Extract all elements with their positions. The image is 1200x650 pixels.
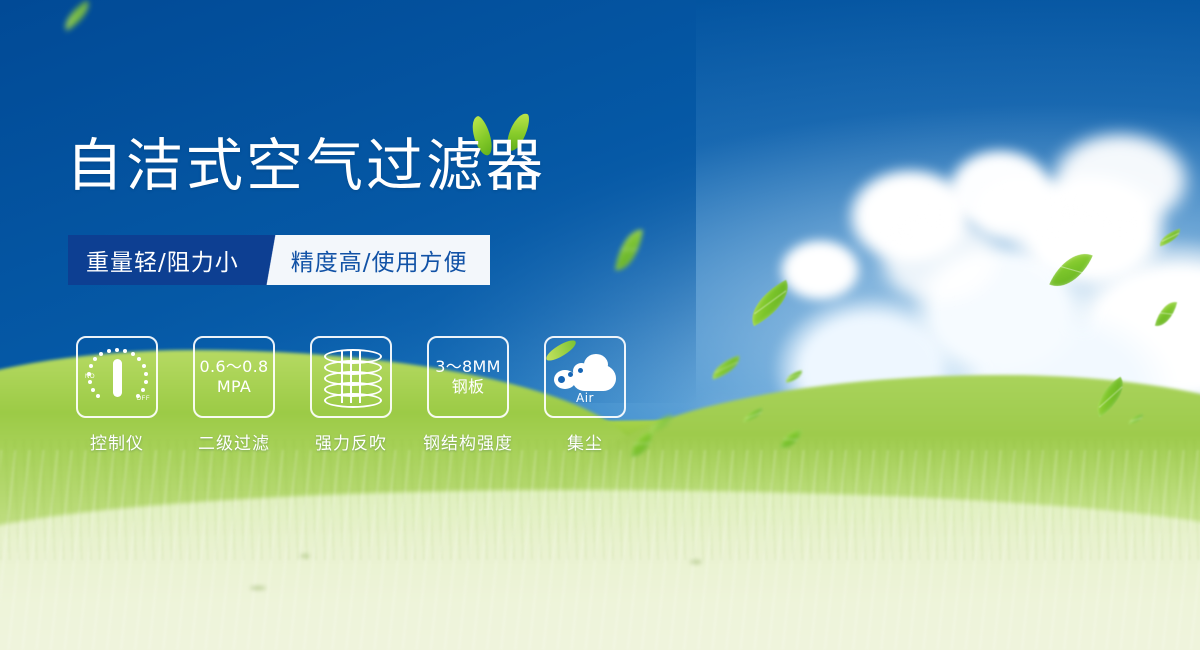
feature-item-two-stage-filter[interactable]: 0.6～0.8 MPA 二级过滤: [193, 336, 275, 454]
feature-caption: 二级过滤: [198, 429, 270, 454]
grass-texture-near: [0, 450, 1200, 650]
gauge-needle: [113, 359, 122, 397]
feature-item-dust-collection[interactable]: Air 集尘: [544, 336, 626, 454]
feature-list: NO OFF 控制仪 0.6～0.8 MPA 二级过滤: [76, 336, 626, 454]
blowback-icon: [324, 349, 378, 405]
feature-caption: 强力反吹: [315, 429, 387, 454]
feature-text-line1: 3～8MM: [435, 357, 500, 377]
subtitle-segment-left: 重量轻/阻力小: [68, 235, 259, 285]
product-banner: 自洁式空气过滤器 重量轻/阻力小 精度高/使用方便: [0, 0, 1200, 650]
grass-speck: [300, 554, 310, 558]
subtitle-divider: [259, 235, 285, 285]
page-title: 自洁式空气过滤器: [66, 138, 546, 195]
feature-caption: 控制仪: [90, 429, 144, 454]
feature-icon-box: 3～8MM 钢板: [427, 336, 509, 418]
feature-text-line2: 钢板: [452, 377, 485, 397]
feature-text-line2: MPA: [217, 377, 251, 397]
feature-item-blowback[interactable]: 强力反吹: [310, 336, 392, 454]
feature-icon-box: Air: [544, 336, 626, 418]
gauge-icon: NO OFF: [86, 348, 148, 406]
subtitle-bar: 重量轻/阻力小 精度高/使用方便: [68, 235, 490, 285]
cloud-cumulus-right-highlight: [820, 90, 1200, 390]
gauge-label-off: OFF: [137, 396, 151, 402]
grass-speck: [690, 560, 702, 564]
feature-text-line1: 0.6～0.8: [200, 357, 269, 377]
feature-caption: 集尘: [567, 429, 603, 454]
air-cloud-icon: Air: [554, 353, 616, 401]
feature-icon-box: NO OFF: [76, 336, 158, 418]
grass-speck: [250, 586, 266, 590]
feature-icon-box: 0.6～0.8 MPA: [193, 336, 275, 418]
subtitle-segment-right: 精度高/使用方便: [285, 235, 490, 285]
feature-icon-box: [310, 336, 392, 418]
air-cloud-label: Air: [554, 391, 616, 405]
feature-item-steel-strength[interactable]: 3～8MM 钢板 钢结构强度: [427, 336, 509, 454]
leaf-icon: [543, 338, 578, 364]
gauge-label-no: NO: [85, 374, 95, 380]
feature-item-controller[interactable]: NO OFF 控制仪: [76, 336, 158, 454]
feature-caption: 钢结构强度: [423, 429, 513, 454]
